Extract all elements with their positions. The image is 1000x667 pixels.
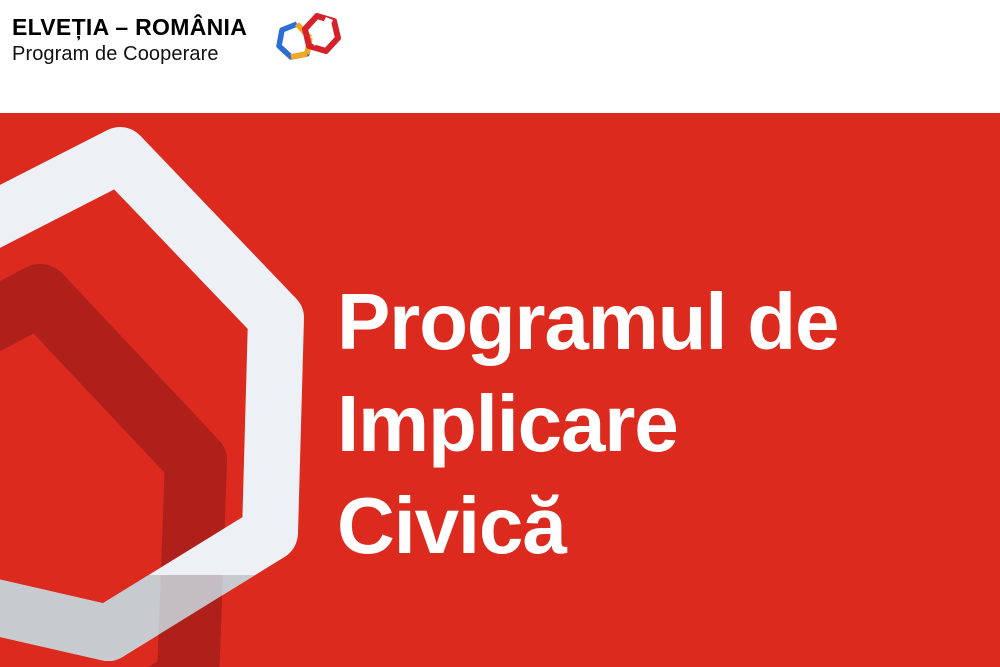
logo-wordmark-line-1: ELVEȚIA – ROMÂNIA [12,16,247,39]
hero-heading: Programul de Implicare Civică [337,271,997,577]
hero-heading-line-3: Civică [337,475,997,577]
page-root: ELVEȚIA – ROMÂNIA Program de Cooperare [0,0,1000,667]
logo-wordmark-line-2: Program de Cooperare [12,44,247,64]
logo-wordmark: ELVEȚIA – ROMÂNIA Program de Cooperare [12,16,247,64]
logo-bar: ELVEȚIA – ROMÂNIA Program de Cooperare [0,0,1000,113]
program-logo-lockup[interactable]: ELVEȚIA – ROMÂNIA Program de Cooperare [0,0,343,70]
hero-banner: Programul de Implicare Civică [0,113,1000,667]
hero-heading-line-1: Programul de [337,271,997,373]
hero-heading-line-2: Implicare [337,373,997,475]
interlocking-hexagons-icon [271,12,343,70]
